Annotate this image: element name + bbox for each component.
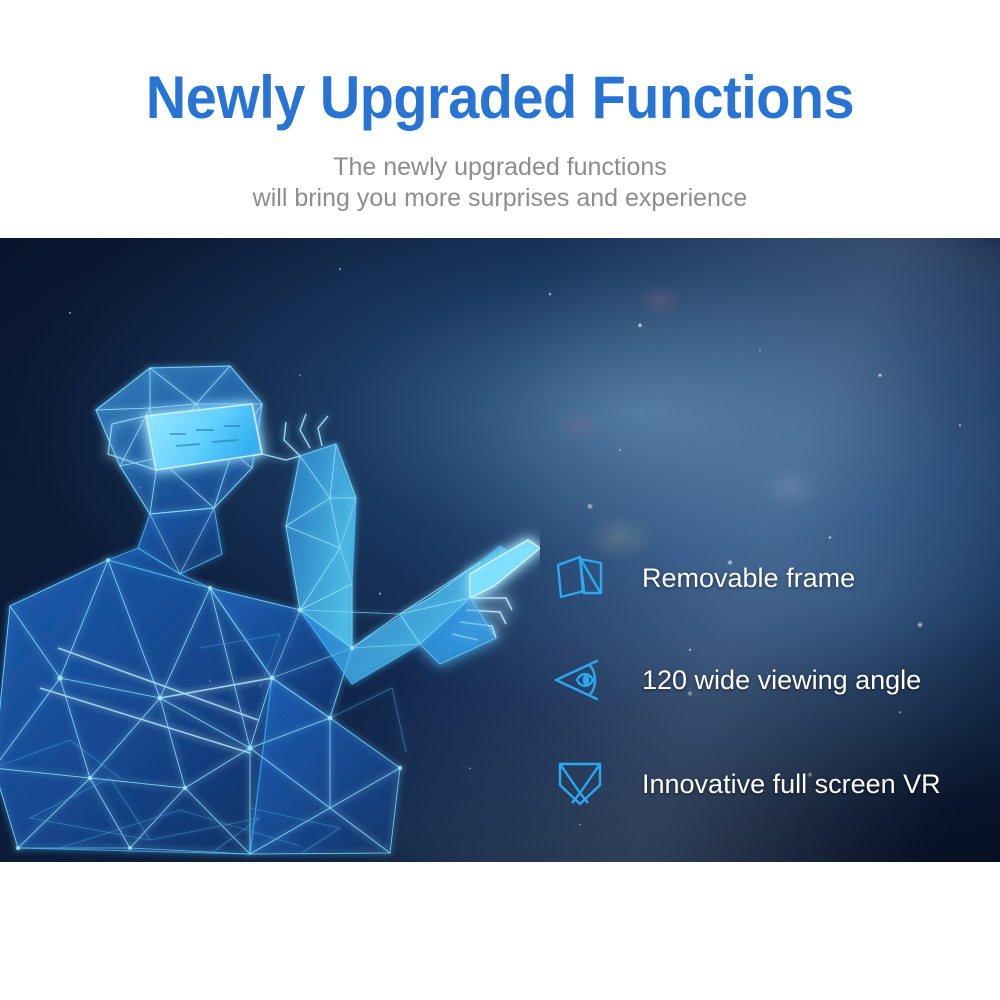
feature-label: 120 wide viewing angle (642, 665, 921, 696)
vr-headset-visor (108, 404, 262, 470)
hero-image: Removable frame (0, 238, 1000, 862)
subtitle-line-2: will bring you more surprises and experi… (0, 183, 1000, 214)
figure-pointing-arm (300, 540, 540, 684)
aspherical-lens-icon (548, 854, 612, 862)
viewing-angle-eye-icon (548, 648, 612, 712)
feature-label: Removable frame (642, 563, 855, 594)
removable-frame-icon (548, 546, 612, 610)
feature-row-removable-frame: Removable frame (548, 546, 855, 610)
feature-label: Innovative full screen VR (642, 769, 941, 800)
wireframe-vr-figure (0, 348, 540, 862)
feature-row-aspherical-lens: HD resin aspherical lens (548, 854, 935, 862)
header-section: Newly Upgraded Functions The newly upgra… (0, 0, 1000, 238)
figure-raised-arm (262, 414, 356, 648)
feature-texts: 120 wide viewing angle (642, 665, 921, 696)
pointing-hand (420, 540, 540, 664)
figure-torso (0, 560, 400, 854)
feature-texts: Removable frame (642, 563, 855, 594)
page-subtitle: The newly upgraded functions will bring … (0, 152, 1000, 214)
feature-row-full-screen-vr: Innovative full screen VR (548, 752, 941, 816)
promo-page: Newly Upgraded Functions The newly upgra… (0, 0, 1000, 1000)
feature-texts: Innovative full screen VR (642, 769, 941, 800)
full-screen-vr-icon (548, 752, 612, 816)
feature-row-viewing-angle: 120 wide viewing angle (548, 648, 921, 712)
page-title: Newly Upgraded Functions (35, 62, 965, 134)
footer-whitespace (0, 862, 1000, 1000)
figure-head (96, 366, 262, 588)
subtitle-line-1: The newly upgraded functions (0, 152, 1000, 183)
